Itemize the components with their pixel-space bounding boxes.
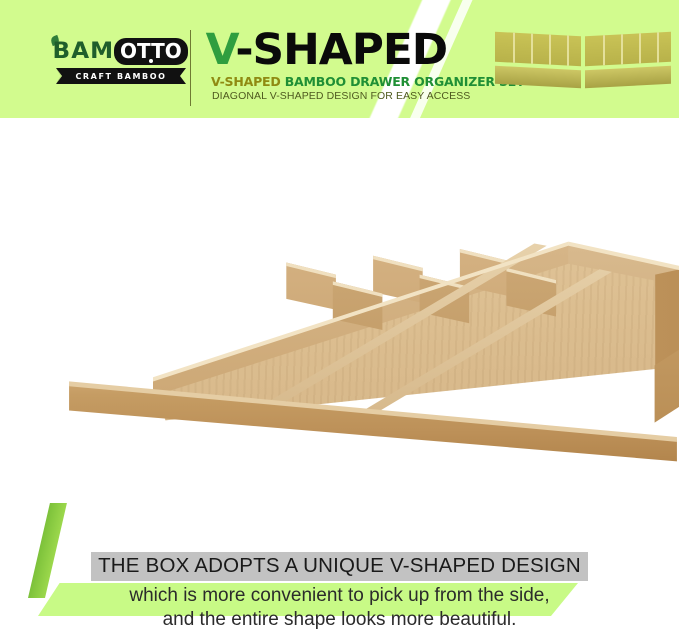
thumbnail-tray-front: [495, 66, 581, 89]
headline-accent: V: [206, 25, 236, 75]
subline-highlight: V-SHAPED: [211, 74, 281, 89]
product-image-area: [0, 118, 679, 538]
header-headline: V-SHAPED: [206, 28, 448, 72]
brand-logo: BAM OTTO CRAFT BAMBOO: [56, 38, 186, 88]
brand-logo-wordmark: BAM OTTO: [56, 38, 186, 64]
caption-block: THE BOX ADOPTS A UNIQUE V-SHAPED DESIGN …: [0, 552, 679, 632]
header-subline: V-SHAPED BAMBOO DRAWER ORGANIZER SET: [211, 74, 524, 89]
header-product-thumbnail: [495, 34, 671, 92]
thumbnail-divider: [513, 33, 515, 63]
thumbnail-divider: [531, 34, 533, 64]
subline-rest: BAMBOO DRAWER ORGANIZER SET: [281, 74, 525, 89]
headline-rest: -SHAPED: [235, 25, 447, 75]
header-tagline: DIAGONAL V-SHAPED DESIGN FOR EASY ACCESS: [212, 90, 470, 102]
caption-line-1: which is more convenient to pick up from…: [0, 584, 679, 608]
thumbnail-divider: [567, 36, 569, 66]
brand-name-badge: OTTO: [114, 38, 188, 65]
brand-ribbon-label: CRAFT BAMBOO: [75, 72, 166, 81]
thumbnail-tray-top: [495, 32, 581, 67]
brand-name-part1: BAM: [53, 39, 115, 64]
caption-headline: THE BOX ADOPTS A UNIQUE V-SHAPED DESIGN: [91, 552, 588, 581]
thumbnail-tray-top: [585, 32, 671, 67]
thumbnail-divider: [603, 35, 605, 65]
thumbnail-tray-right: [585, 32, 671, 95]
header-divider: [190, 30, 191, 106]
thumbnail-divider: [621, 34, 623, 64]
product-bamboo-organizer: [60, 226, 620, 581]
thumbnail-divider: [549, 35, 551, 65]
thumbnail-tray-left: [495, 32, 581, 95]
thumbnail-tray-front: [585, 66, 671, 89]
dot-icon: [149, 59, 153, 63]
caption-line-2: and the entire shape looks more beautifu…: [0, 608, 679, 632]
thumbnail-divider: [657, 32, 659, 62]
thumbnail-divider: [639, 33, 641, 63]
header-banner: BAM OTTO CRAFT BAMBOO V-SHAPED V-SHAPED …: [0, 0, 679, 118]
brand-ribbon: CRAFT BAMBOO: [56, 68, 186, 84]
